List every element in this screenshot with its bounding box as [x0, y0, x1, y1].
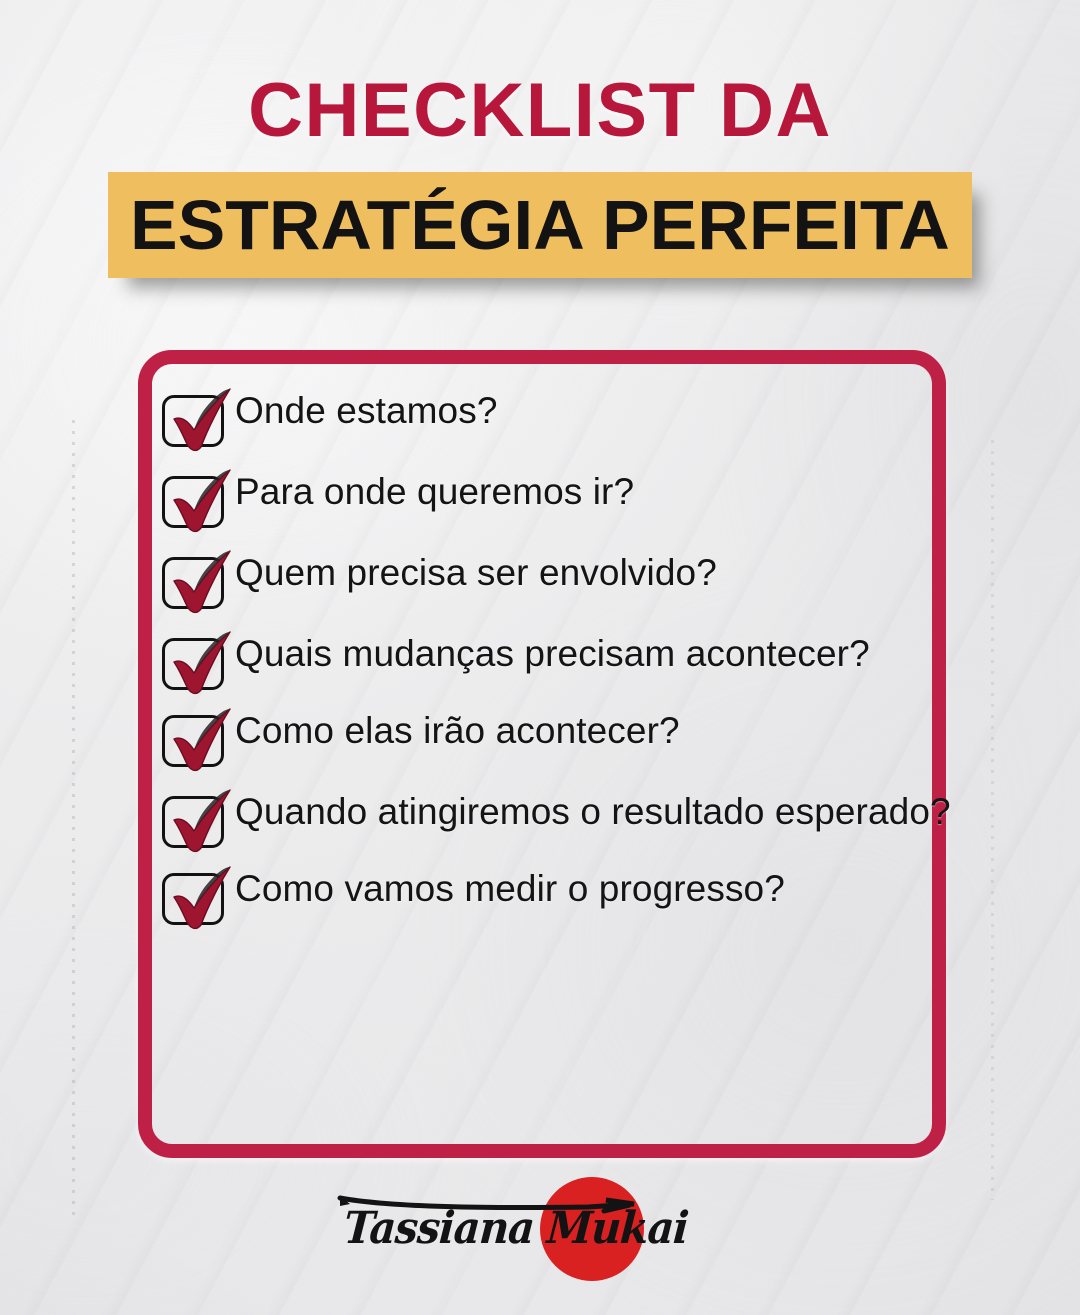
checklist-item-label: Quando atingiremos o resultado esperado?: [230, 783, 962, 840]
check-mark-icon: [168, 626, 242, 702]
checklist-item-label: Como elas irão acontecer?: [230, 702, 962, 759]
page-title-line1: CHECKLIST DA: [0, 73, 1080, 149]
checklist-item[interactable]: Para onde queremos ir?: [162, 463, 962, 530]
page-title-line2: ESTRATÉGIA PERFEITA: [130, 190, 950, 260]
checklist-item-label: Onde estamos?: [230, 382, 962, 439]
check-mark-icon: [168, 784, 242, 860]
dotted-rule-left: [72, 420, 75, 1220]
checklist-item[interactable]: Quem precisa ser envolvido?: [162, 544, 962, 611]
dotted-rule-right: [991, 440, 994, 1200]
brush-stroke-icon: [338, 1192, 638, 1218]
checklist-item-label: Para onde queremos ir?: [230, 463, 962, 520]
checkbox-quais-mudancas-precisam-acontecer[interactable]: [162, 630, 230, 692]
check-mark-icon: [168, 861, 242, 937]
title-highlight-band: ESTRATÉGIA PERFEITA: [108, 172, 972, 278]
brand-signature: Tassiana Mukai: [0, 1163, 1080, 1293]
checklist-item[interactable]: Quando atingiremos o resultado esperado?: [162, 783, 962, 850]
check-mark-icon: [168, 545, 242, 621]
checklist-item-label: Quem precisa ser envolvido?: [230, 544, 962, 601]
check-mark-icon: [168, 383, 242, 459]
checklist-poster: CHECKLIST DA ESTRATÉGIA PERFEITA Onde es…: [0, 0, 1080, 1315]
checkbox-como-vamos-medir-o-progresso[interactable]: [162, 865, 230, 927]
checklist-item-label: Quais mudanças precisam acontecer?: [230, 625, 962, 682]
checklist-item[interactable]: Quais mudanças precisam acontecer?: [162, 625, 962, 692]
checkbox-quem-precisa-ser-envolvido[interactable]: [162, 549, 230, 611]
checklist-item[interactable]: Onde estamos?: [162, 382, 962, 449]
checklist-item-label: Como vamos medir o progresso?: [230, 860, 962, 917]
check-mark-icon: [168, 464, 242, 540]
check-mark-icon: [168, 703, 242, 779]
checkbox-quando-atingiremos-o-resultado-esperado[interactable]: [162, 788, 230, 850]
checkbox-para-onde-queremos-ir[interactable]: [162, 468, 230, 530]
checklist-item[interactable]: Como elas irão acontecer?: [162, 702, 962, 769]
checkbox-como-elas-irao-acontecer[interactable]: [162, 707, 230, 769]
checklist-items: Onde estamos? Para onde queremos ir? Que…: [162, 382, 962, 941]
checkbox-onde-estamos[interactable]: [162, 387, 230, 449]
checklist-item[interactable]: Como vamos medir o progresso?: [162, 860, 962, 927]
